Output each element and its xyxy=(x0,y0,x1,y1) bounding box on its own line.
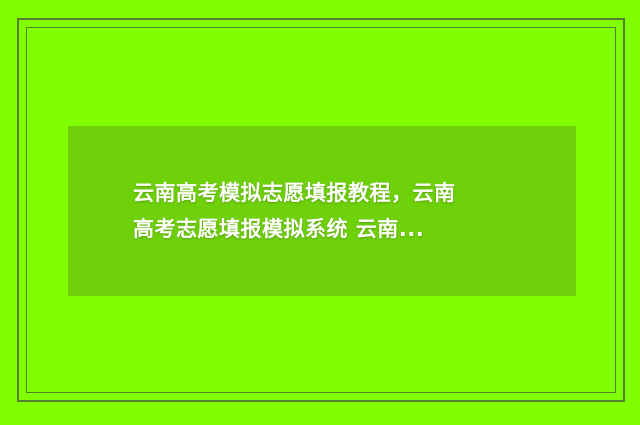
caption-line-2: 高考志愿填报模拟系统 云南... xyxy=(133,211,556,247)
image-canvas: 云南高考模拟志愿填报教程，云南 高考志愿填报模拟系统 云南... xyxy=(0,0,640,425)
caption-line-1: 云南高考模拟志愿填报教程，云南 xyxy=(133,175,556,211)
caption-panel: 云南高考模拟志愿填报教程，云南 高考志愿填报模拟系统 云南... xyxy=(68,126,576,296)
